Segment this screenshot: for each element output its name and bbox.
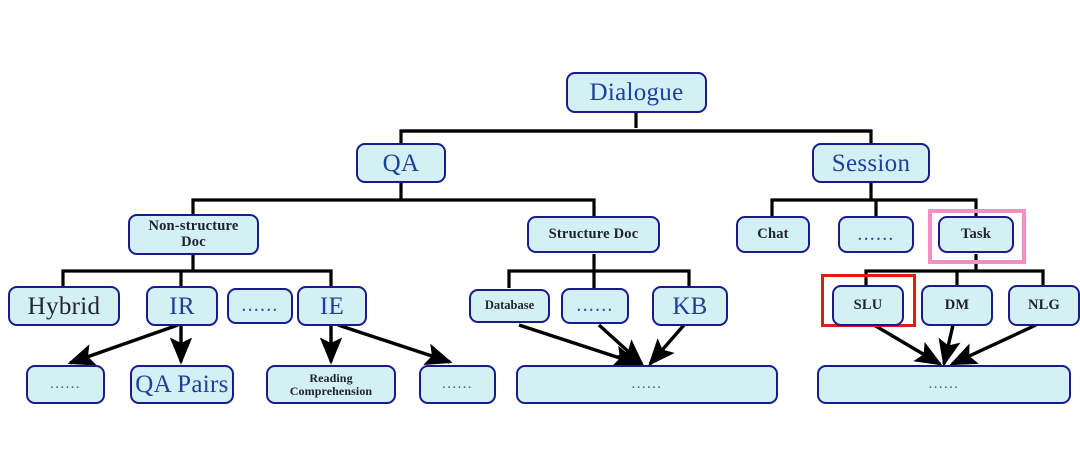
node-structure-doc[interactable]: Structure Doc bbox=[527, 216, 660, 253]
node-non-structure-doc-label-line1: Non-structure bbox=[148, 219, 238, 235]
node-session[interactable]: Session bbox=[812, 143, 930, 183]
taxonomy-diagram: Dialogue QA Session Non-structure Doc St… bbox=[0, 0, 1080, 473]
node-database[interactable]: Database bbox=[469, 289, 550, 323]
node-ie-ellipsis[interactable]: ...... bbox=[419, 365, 496, 404]
node-dialogue-label: Dialogue bbox=[589, 79, 683, 106]
node-kb[interactable]: KB bbox=[652, 286, 728, 326]
node-hybrid[interactable]: Hybrid bbox=[8, 286, 120, 326]
node-reading-comprehension[interactable]: Reading Comprehension bbox=[266, 365, 396, 404]
node-qa-label: QA bbox=[383, 150, 420, 177]
node-reading-comprehension-label-line1: Reading bbox=[309, 372, 352, 385]
node-session-ellipsis[interactable]: ...... bbox=[838, 216, 914, 253]
node-nlg-label: NLG bbox=[1028, 298, 1060, 314]
node-structure-doc-sink[interactable]: ...... bbox=[516, 365, 778, 404]
node-task-sink[interactable]: ...... bbox=[817, 365, 1071, 404]
node-session-label: Session bbox=[832, 150, 911, 177]
node-nlg[interactable]: NLG bbox=[1008, 285, 1080, 326]
node-ir-ellipsis-label: ...... bbox=[50, 376, 81, 392]
node-structure-doc-sink-label: ...... bbox=[632, 376, 663, 392]
node-ir-ellipsis[interactable]: ...... bbox=[26, 365, 105, 404]
node-reading-comprehension-label-line2: Comprehension bbox=[290, 385, 372, 398]
node-kb-label: KB bbox=[672, 293, 707, 320]
node-qa-pairs-label: QA Pairs bbox=[135, 371, 228, 398]
node-slu-label: SLU bbox=[854, 298, 883, 314]
node-structure-doc-label: Structure Doc bbox=[549, 227, 639, 243]
node-non-structure-doc[interactable]: Non-structure Doc bbox=[128, 214, 259, 255]
node-slu[interactable]: SLU bbox=[832, 285, 904, 326]
node-ie-ellipsis-label: ...... bbox=[442, 376, 473, 392]
node-task-label: Task bbox=[961, 227, 991, 243]
node-chat[interactable]: Chat bbox=[736, 216, 810, 253]
node-nsd-ellipsis[interactable]: ...... bbox=[227, 288, 293, 324]
node-sd-ellipsis[interactable]: ...... bbox=[561, 288, 629, 324]
node-database-label: Database bbox=[485, 299, 534, 313]
node-task[interactable]: Task bbox=[938, 216, 1014, 253]
node-task-sink-label: ...... bbox=[929, 376, 960, 392]
node-chat-label: Chat bbox=[757, 227, 788, 243]
node-ir-label: IR bbox=[169, 293, 195, 320]
node-non-structure-doc-label-line2: Doc bbox=[181, 235, 206, 251]
node-sd-ellipsis-label: ...... bbox=[576, 295, 613, 317]
node-qa-pairs[interactable]: QA Pairs bbox=[130, 365, 234, 404]
node-hybrid-label: Hybrid bbox=[28, 293, 101, 320]
node-ie-label: IE bbox=[320, 293, 344, 320]
node-dm-label: DM bbox=[945, 298, 970, 314]
node-session-ellipsis-label: ...... bbox=[857, 224, 894, 246]
node-dm[interactable]: DM bbox=[921, 285, 993, 326]
node-nsd-ellipsis-label: ...... bbox=[241, 295, 278, 317]
node-qa[interactable]: QA bbox=[356, 143, 446, 183]
node-ir[interactable]: IR bbox=[146, 286, 218, 326]
node-ie[interactable]: IE bbox=[297, 286, 367, 326]
node-dialogue[interactable]: Dialogue bbox=[566, 72, 707, 113]
